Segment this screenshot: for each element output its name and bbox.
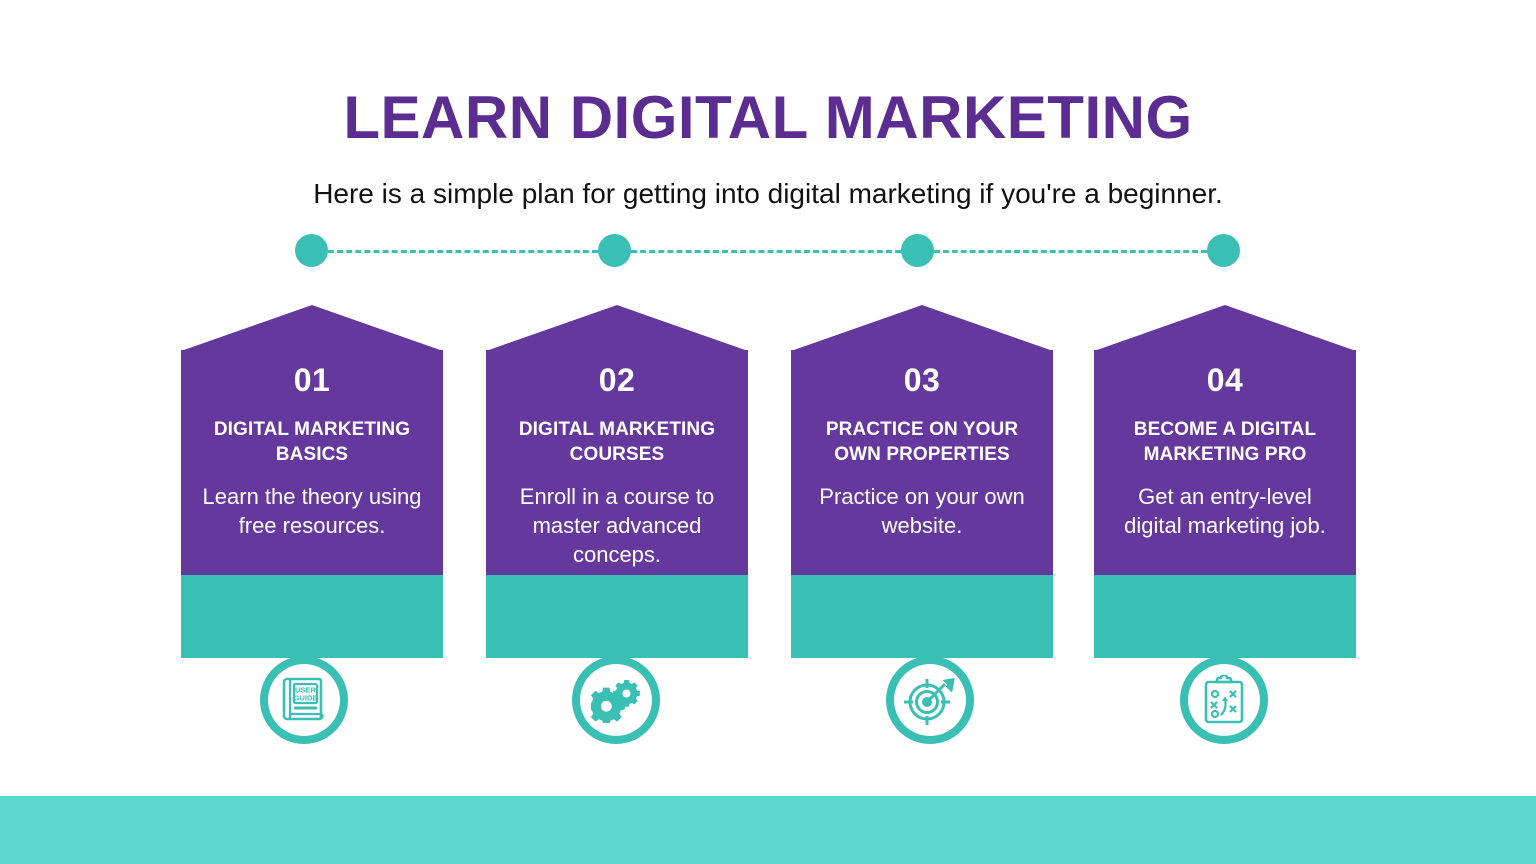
- page-subtitle: Here is a simple plan for getting into d…: [0, 177, 1536, 211]
- user-guide-book-icon: USER GUIDE: [281, 676, 327, 724]
- infographic-slide: LEARN DIGITAL MARKETING Here is a simple…: [0, 0, 1536, 864]
- timeline-dot-3: [901, 234, 934, 267]
- step-icon-badge-3[interactable]: [886, 656, 974, 744]
- icon-badge-inner: [1188, 664, 1260, 736]
- card-footer-band: [791, 575, 1053, 658]
- card-body: 02 DIGITAL MARKETING COURSES Enroll in a…: [486, 350, 748, 575]
- step-number: 04: [1108, 363, 1342, 398]
- timeline-dot-2: [598, 234, 631, 267]
- step-icon-badge-4[interactable]: [1180, 656, 1268, 744]
- strategy-clipboard-icon: [1202, 675, 1246, 725]
- card-body: 04 BECOME A DIGITAL MARKETING PRO Get an…: [1094, 350, 1356, 575]
- step-heading: PRACTICE ON YOUR OWN PROPERTIES: [805, 417, 1039, 467]
- bottom-accent-bar: [0, 796, 1536, 864]
- card-footer-band: [486, 575, 748, 658]
- target-arrow-icon: [904, 675, 956, 725]
- card-body: 01 DIGITAL MARKETING BASICS Learn the th…: [181, 350, 443, 575]
- card-roof-shape: [486, 305, 748, 351]
- step-number: 01: [195, 363, 429, 398]
- card-footer-band: [181, 575, 443, 658]
- card-body: 03 PRACTICE ON YOUR OWN PROPERTIES Pract…: [791, 350, 1053, 575]
- step-number: 03: [805, 363, 1039, 398]
- step-heading: BECOME A DIGITAL MARKETING PRO: [1108, 417, 1342, 467]
- step-description: Learn the theory using free resources.: [195, 482, 429, 540]
- icon-badge-inner: [894, 664, 966, 736]
- gears-icon: [591, 677, 641, 723]
- page-title: LEARN DIGITAL MARKETING: [0, 86, 1536, 149]
- timeline-dot-1: [295, 234, 328, 267]
- card-roof-shape: [1094, 305, 1356, 351]
- step-heading: DIGITAL MARKETING BASICS: [195, 417, 429, 467]
- step-heading: DIGITAL MARKETING COURSES: [500, 417, 734, 467]
- step-description: Practice on your own website.: [805, 482, 1039, 540]
- step-number: 02: [500, 363, 734, 398]
- timeline-dot-4: [1207, 234, 1240, 267]
- timeline-segment-3: [934, 250, 1207, 253]
- icon-badge-inner: [580, 664, 652, 736]
- svg-text:GUIDE: GUIDE: [293, 694, 317, 703]
- icon-badge-inner: USER GUIDE: [268, 664, 340, 736]
- timeline-segment-1: [328, 250, 598, 253]
- card-footer-band: [1094, 575, 1356, 658]
- step-description: Enroll in a course to master advanced co…: [500, 482, 734, 569]
- step-icon-badge-1[interactable]: USER GUIDE: [260, 656, 348, 744]
- card-roof-shape: [181, 305, 443, 351]
- step-icon-badge-2[interactable]: [572, 656, 660, 744]
- timeline-connector: [295, 234, 1240, 268]
- step-description: Get an entry-level digital marketing job…: [1108, 482, 1342, 540]
- timeline-segment-2: [631, 250, 901, 253]
- card-roof-shape: [791, 305, 1053, 351]
